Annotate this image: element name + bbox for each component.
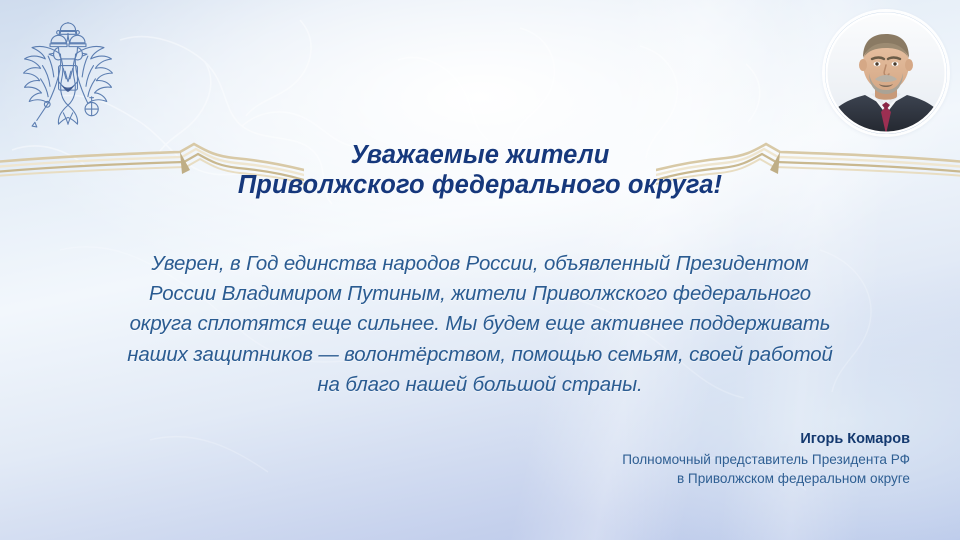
message-line-4: наших защитников — волонтёрством, помощь… — [0, 340, 960, 370]
russian-coat-of-arms-icon — [16, 22, 120, 128]
poster-canvas: Уважаемые жители Приволжского федерально… — [0, 0, 960, 540]
signature-role-line-2: в Приволжском федеральном округе — [622, 470, 910, 489]
signature-name: Игорь Комаров — [622, 430, 910, 449]
headline-line-2: Приволжского федерального округа! — [0, 170, 960, 200]
message-line-5: на благо нашей большой страны. — [0, 370, 960, 400]
signature-block: Игорь Комаров Полномочный представитель … — [622, 430, 910, 488]
signature-role-line-1: Полномочный представитель Президента РФ — [622, 451, 910, 470]
headline-line-1: Уважаемые жители — [0, 140, 960, 170]
message-line-2: России Владимиром Путиным, жители Привол… — [0, 279, 960, 309]
message-line-3: округа сплотятся еще сильнее. Мы будем е… — [0, 309, 960, 339]
message-body: Уверен, в Год единства народов России, о… — [0, 249, 960, 400]
headline: Уважаемые жители Приволжского федерально… — [0, 140, 960, 200]
message-line-1: Уверен, в Год единства народов России, о… — [0, 249, 960, 279]
official-portrait-avatar — [825, 12, 947, 134]
